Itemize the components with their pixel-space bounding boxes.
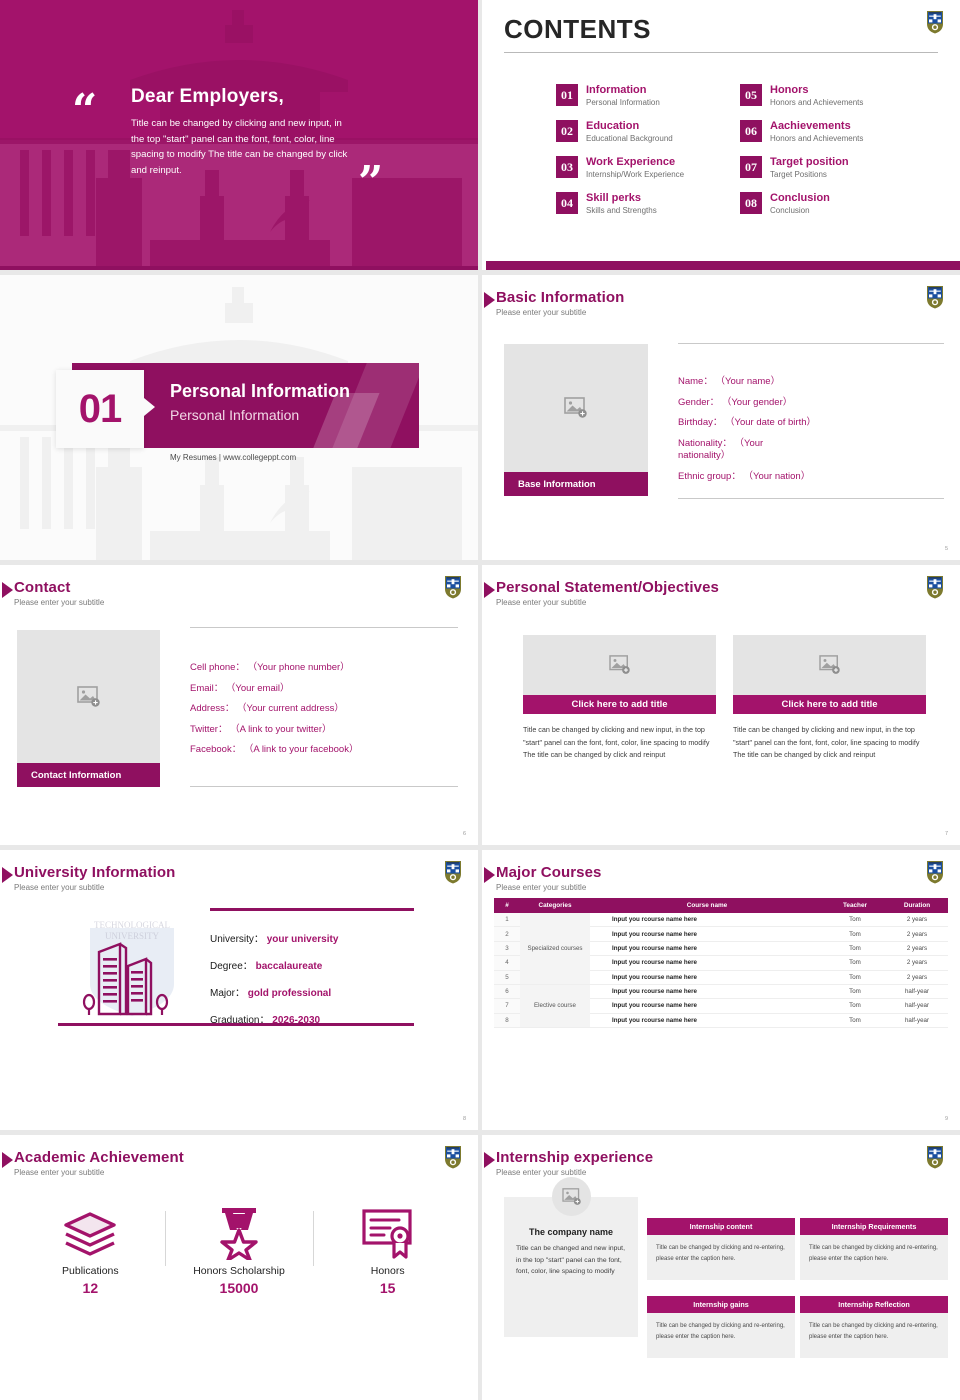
slide-basic-information[interactable]: Basic Information Please enter your subt… xyxy=(482,275,960,560)
card-title-bar[interactable]: Click here to add title xyxy=(733,695,926,714)
contents-number: 06 xyxy=(740,120,762,142)
contents-subheading: Skills and Strengths xyxy=(586,206,657,216)
page-title: Personal Statement/Objectives xyxy=(496,579,719,596)
contents-subheading: Educational Background xyxy=(586,134,673,144)
section-number: 01 xyxy=(79,387,122,432)
info-row: Birthday： （Your date of birth） xyxy=(678,418,944,428)
company-description: Title can be changed and new input, in t… xyxy=(516,1243,626,1278)
info-row: Email： （Your email） xyxy=(190,684,458,694)
info-value: （Your phone number） xyxy=(248,662,350,673)
university-detail-list: University： your university Degree： bacc… xyxy=(210,930,338,1038)
slide-academic-achievement[interactable]: Academic Achievement Please enter your s… xyxy=(0,1135,478,1400)
page-title: Major Courses xyxy=(496,864,602,881)
title-triangle-icon xyxy=(2,582,13,598)
cell-teacher: Tom xyxy=(824,913,886,927)
internship-card[interactable]: Internship gains Title can be changed by… xyxy=(647,1296,795,1358)
row-key: University： xyxy=(210,934,264,945)
page-subtitle: Please enter your subtitle xyxy=(496,308,624,317)
cell-course: Input you rcourse name here xyxy=(590,1013,824,1027)
cell-index: 8 xyxy=(494,1013,520,1027)
page-number: 8 xyxy=(463,1116,466,1122)
cell-duration: 2 years xyxy=(886,970,948,984)
contents-number: 07 xyxy=(740,156,762,178)
cell-teacher: Tom xyxy=(824,1013,886,1027)
slide-header: Personal Statement/Objectives Please ent… xyxy=(496,579,719,607)
courses-table: # Categories Course name Teacher Duratio… xyxy=(494,898,948,1028)
achievement-value: 12 xyxy=(16,1280,165,1296)
info-value: （Your date of birth） xyxy=(725,417,816,428)
page-title: Academic Achievement xyxy=(14,1149,184,1166)
info-row: Facebook： （A link to your facebook） xyxy=(190,745,458,755)
info-key: Name： xyxy=(678,376,713,387)
info-value: （Your gender） xyxy=(722,397,792,408)
contents-subheading: Personal Information xyxy=(586,98,660,108)
contents-number: 03 xyxy=(556,156,578,178)
medal-icon xyxy=(165,1205,314,1261)
books-icon xyxy=(16,1205,165,1261)
cell-teacher: Tom xyxy=(824,927,886,941)
info-row: Name： （Your name） xyxy=(678,377,944,387)
achievement-stats-row: Publications 12 Honors Scholarship 15000 xyxy=(16,1205,462,1296)
slide-personal-statement[interactable]: Personal Statement/Objectives Please ent… xyxy=(482,565,960,845)
page-number: 9 xyxy=(945,1116,948,1122)
title-triangle-icon xyxy=(484,582,495,598)
page-subtitle: Please enter your subtitle xyxy=(496,598,719,607)
contents-heading: Information xyxy=(586,84,660,97)
cell-index: 2 xyxy=(494,927,520,941)
slide-header: Contact Please enter your subtitle xyxy=(14,579,104,607)
photo-caption-bar: Contact Information xyxy=(17,763,160,787)
university-shield-logo xyxy=(444,575,462,599)
contents-divider-rule xyxy=(504,52,938,53)
contents-bottom-bar xyxy=(486,261,960,270)
slide-header: Major Courses Please enter your subtitle xyxy=(496,864,602,892)
column-header-duration: Duration xyxy=(886,898,948,913)
photo-placeholder[interactable] xyxy=(523,635,716,695)
column-header-course: Course name xyxy=(590,898,824,913)
image-placeholder-icon xyxy=(77,686,101,708)
photo-placeholder[interactable] xyxy=(552,1177,591,1216)
card-title-bar[interactable]: Internship Requirements xyxy=(800,1218,948,1235)
university-shield-logo xyxy=(926,860,944,884)
university-shield-logo xyxy=(926,1145,944,1169)
slide-university-information[interactable]: University Information Please enter your… xyxy=(0,850,478,1130)
table-header-row: # Categories Course name Teacher Duratio… xyxy=(494,898,948,913)
page-subtitle: Please enter your subtitle xyxy=(14,598,104,607)
cell-duration: 2 years xyxy=(886,956,948,970)
university-shield-logo xyxy=(926,10,944,34)
info-value: （Your nation） xyxy=(743,471,810,482)
cell-teacher: Tom xyxy=(824,970,886,984)
cell-duration: 2 years xyxy=(886,941,948,955)
info-value: （Your email） xyxy=(226,683,290,694)
company-name: The company name xyxy=(516,1227,626,1237)
cover-bottom-bar xyxy=(0,266,478,270)
card-title-bar[interactable]: Internship gains xyxy=(647,1296,795,1313)
basic-info-list: Name： （Your name） Gender： （Your gender） … xyxy=(678,343,944,499)
cell-teacher: Tom xyxy=(824,941,886,955)
table-row: 6 Elective course Input you rcourse name… xyxy=(494,984,948,998)
cell-duration: half-year xyxy=(886,1013,948,1027)
column-header-categories: Categories xyxy=(520,898,590,913)
slide-internship-experience[interactable]: Internship experience Please enter your … xyxy=(482,1135,960,1400)
card-body-text: Title can be changed by clicking and re-… xyxy=(647,1313,795,1350)
image-placeholder-icon xyxy=(609,655,631,675)
achievement-value: 15000 xyxy=(165,1280,314,1296)
cell-course: Input you rcourse name here xyxy=(590,913,824,927)
cell-index: 5 xyxy=(494,970,520,984)
company-panel: The company name Title can be changed an… xyxy=(504,1197,638,1337)
cell-duration: 2 years xyxy=(886,913,948,927)
slide-deck-grid: “ Dear Employers, Title can be changed b… xyxy=(0,0,960,1400)
cell-course: Input you rcourse name here xyxy=(590,941,824,955)
contents-subheading: Honors and Achievements xyxy=(770,98,863,108)
info-key: Birthday： xyxy=(678,417,722,428)
contents-item-05[interactable]: 05 Honors Honors and Achievements xyxy=(740,84,924,108)
card-title-bar[interactable]: Click here to add title xyxy=(523,695,716,714)
university-row: University： your university xyxy=(210,930,338,945)
cell-index: 1 xyxy=(494,913,520,927)
slide-contents[interactable]: CONTENTS 01 Information Personal Informa… xyxy=(482,0,960,270)
contents-item-07[interactable]: 07 Target position Target Positions xyxy=(740,156,924,180)
quote-close-icon: ” xyxy=(358,168,383,199)
row-value: your university xyxy=(267,934,339,945)
title-triangle-icon xyxy=(484,292,495,308)
info-row: Ethnic group： （Your nation） xyxy=(678,472,944,482)
info-key: Email： xyxy=(190,683,223,694)
cell-duration: 2 years xyxy=(886,927,948,941)
achievement-stat: Honors 15 xyxy=(313,1205,462,1296)
card-body-text: Title can be changed by clicking and re-… xyxy=(800,1313,948,1350)
info-value: （A link to your facebook） xyxy=(244,744,359,755)
cell-course: Input you rcourse name here xyxy=(590,927,824,941)
card-body-text: Title can be changed by clicking and new… xyxy=(523,724,716,762)
university-shield-logo xyxy=(444,1145,462,1169)
internship-card[interactable]: Internship Requirements Title can be cha… xyxy=(800,1218,948,1280)
contents-item-01[interactable]: 01 Information Personal Information xyxy=(556,84,740,108)
page-number: 7 xyxy=(945,831,948,837)
title-triangle-icon xyxy=(484,867,495,883)
info-value: （Your current address） xyxy=(237,703,344,714)
info-row: Cell phone： （Your phone number） xyxy=(190,663,458,673)
contents-number: 01 xyxy=(556,84,578,106)
university-row: Degree： baccalaureate xyxy=(210,957,338,972)
image-placeholder-icon xyxy=(819,655,841,675)
cell-course: Input you rcourse name here xyxy=(590,984,824,998)
slide-header: Internship experience Please enter your … xyxy=(496,1149,653,1177)
photo-placeholder[interactable] xyxy=(733,635,926,695)
contents-number: 08 xyxy=(740,192,762,214)
section-heading: Personal Information xyxy=(170,381,350,402)
info-value: nationality） xyxy=(678,450,730,461)
cell-teacher: Tom xyxy=(824,956,886,970)
photo-placeholder[interactable] xyxy=(504,344,648,472)
column-header-index: # xyxy=(494,898,520,913)
info-key: Gender： xyxy=(678,397,719,408)
page-title: Internship experience xyxy=(496,1149,653,1166)
cell-category: Elective course xyxy=(520,984,590,1027)
cell-index: 7 xyxy=(494,999,520,1013)
info-key: Twitter： xyxy=(190,724,227,735)
internship-card[interactable]: Internship content Title can be changed … xyxy=(647,1218,795,1280)
slide-major-courses[interactable]: Major Courses Please enter your subtitle… xyxy=(482,850,960,1130)
contents-title: CONTENTS xyxy=(504,14,651,45)
achievement-label: Honors xyxy=(313,1265,462,1277)
card-body-text: Title can be changed by clicking and re-… xyxy=(647,1235,795,1272)
title-triangle-icon xyxy=(2,867,13,883)
achievement-stat: Publications 12 xyxy=(16,1205,165,1296)
list-bottom-rule xyxy=(678,498,944,499)
contents-item-02[interactable]: 02 Education Educational Background xyxy=(556,120,740,144)
cell-index: 4 xyxy=(494,956,520,970)
contents-heading: Education xyxy=(586,120,673,133)
row-key: Graduation： xyxy=(210,1015,269,1026)
contents-heading: Conclusion xyxy=(770,192,830,205)
achievement-value: 15 xyxy=(313,1280,462,1296)
row-key: Degree： xyxy=(210,961,253,972)
column-header-teacher: Teacher xyxy=(824,898,886,913)
info-key: Address： xyxy=(190,703,234,714)
slide-header: University Information Please enter your… xyxy=(14,864,175,892)
contents-heading: Skill perks xyxy=(586,192,657,205)
table-row: 1 Specialized courses Input you rcourse … xyxy=(494,913,948,927)
row-value: gold professional xyxy=(248,988,331,999)
svg-text:UNIVERSITY: UNIVERSITY xyxy=(105,931,159,941)
info-row: nationality） xyxy=(678,451,944,461)
image-placeholder-icon xyxy=(562,1188,582,1206)
info-value: （A link to your twitter） xyxy=(230,724,331,735)
cell-teacher: Tom xyxy=(824,984,886,998)
info-key: Nationality： xyxy=(678,438,732,449)
cell-index: 3 xyxy=(494,941,520,955)
info-value: （Your xyxy=(735,438,764,449)
panel-top-rule xyxy=(210,908,414,911)
page-number: 5 xyxy=(945,546,948,552)
section-subheading: Personal Information xyxy=(170,407,299,423)
university-shield-logo xyxy=(926,575,944,599)
contents-heading: Honors xyxy=(770,84,863,97)
section-number-box: 01 xyxy=(56,370,144,448)
university-shield-logo xyxy=(444,860,462,884)
slide-section-divider[interactable]: Personal Information Personal Informatio… xyxy=(0,275,478,560)
cell-index: 6 xyxy=(494,984,520,998)
university-row: Major： gold professional xyxy=(210,984,338,999)
page-subtitle: Please enter your subtitle xyxy=(14,883,175,892)
contents-subheading: Target Positions xyxy=(770,170,849,180)
cell-course: Input you rcourse name here xyxy=(590,999,824,1013)
contents-item-08[interactable]: 08 Conclusion Conclusion xyxy=(740,192,924,216)
title-triangle-icon xyxy=(2,1152,13,1168)
contents-subheading: Internship/Work Experience xyxy=(586,170,684,180)
university-building-icon: TECHNOLOGICAL UNIVERSITY xyxy=(62,914,202,1022)
card-title-bar[interactable]: Internship Reflection xyxy=(800,1296,948,1313)
page-subtitle: Please enter your subtitle xyxy=(496,883,602,892)
slide-cover[interactable]: “ Dear Employers, Title can be changed b… xyxy=(0,0,478,270)
contents-heading: Work Experience xyxy=(586,156,684,169)
contents-heading: Target position xyxy=(770,156,849,169)
cell-teacher: Tom xyxy=(824,999,886,1013)
slide-header: Basic Information Please enter your subt… xyxy=(496,289,624,317)
contents-number: 04 xyxy=(556,192,578,214)
university-watermark-text: TECHNOLOGICAL xyxy=(94,920,170,930)
statement-card[interactable]: Click here to add title Title can be cha… xyxy=(733,635,926,762)
page-title: Basic Information xyxy=(496,289,624,306)
cell-course: Input you rcourse name here xyxy=(590,970,824,984)
list-top-rule xyxy=(678,343,944,344)
info-key: Facebook： xyxy=(190,744,241,755)
achievement-label: Honors Scholarship xyxy=(165,1265,314,1277)
achievement-stat: Honors Scholarship 15000 xyxy=(165,1205,314,1296)
contents-subheading: Honors and Achievements xyxy=(770,134,863,144)
photo-caption-bar: Base Information xyxy=(504,472,648,496)
info-key: Cell phone： xyxy=(190,662,245,673)
contents-item-06[interactable]: 06 Aachievements Honors and Achievements xyxy=(740,120,924,144)
info-row: Gender： （Your gender） xyxy=(678,398,944,408)
info-row: Nationality： （Your xyxy=(678,439,944,449)
slide-header: Academic Achievement Please enter your s… xyxy=(14,1149,184,1177)
statement-card[interactable]: Click here to add title Title can be cha… xyxy=(523,635,716,762)
contents-heading: Aachievements xyxy=(770,120,863,133)
page-title: University Information xyxy=(14,864,175,881)
card-title-bar[interactable]: Internship content xyxy=(647,1218,795,1235)
contents-list: 01 Information Personal Information 05 H… xyxy=(556,84,924,216)
university-panel: TECHNOLOGICAL UNIVERSITY xyxy=(58,908,414,1026)
row-value: 2026-2030 xyxy=(272,1015,320,1026)
cell-course: Input you rcourse name here xyxy=(590,956,824,970)
card-body-text: Title can be changed by clicking and new… xyxy=(733,724,926,762)
row-key: Major： xyxy=(210,988,245,999)
quote-open-icon: “ xyxy=(72,96,98,127)
internship-card[interactable]: Internship Reflection Title can be chang… xyxy=(800,1296,948,1358)
cover-body-text: Title can be changed by clicking and new… xyxy=(131,116,349,178)
card-body-text: Title can be changed by clicking and re-… xyxy=(800,1235,948,1272)
image-placeholder-icon xyxy=(564,397,588,419)
cover-title: Dear Employers, xyxy=(131,86,284,108)
page-number: 6 xyxy=(463,831,466,837)
certificate-icon xyxy=(313,1205,462,1261)
contents-number: 02 xyxy=(556,120,578,142)
list-bottom-rule xyxy=(190,786,458,787)
contents-item-04[interactable]: 04 Skill perks Skills and Strengths xyxy=(556,192,740,216)
row-value: baccalaureate xyxy=(256,961,323,972)
list-top-rule xyxy=(190,627,458,628)
university-shield-logo xyxy=(926,285,944,309)
contents-subheading: Conclusion xyxy=(770,206,830,216)
page-subtitle: Please enter your subtitle xyxy=(496,1168,653,1177)
contents-number: 05 xyxy=(740,84,762,106)
photo-placeholder[interactable] xyxy=(17,630,160,764)
slide-contact[interactable]: Contact Please enter your subtitle xyxy=(0,565,478,845)
cell-duration: half-year xyxy=(886,999,948,1013)
achievement-label: Publications xyxy=(16,1265,165,1277)
info-row: Address： （Your current address） xyxy=(190,704,458,714)
section-arrow-icon xyxy=(144,398,155,416)
contents-item-03[interactable]: 03 Work Experience Internship/Work Exper… xyxy=(556,156,740,180)
cell-category: Specialized courses xyxy=(520,913,590,984)
cell-duration: half-year xyxy=(886,984,948,998)
title-triangle-icon xyxy=(484,1152,495,1168)
university-row: Graduation： 2026-2030 xyxy=(210,1011,338,1026)
section-footer-text: My Resumes | www.collegeppt.com xyxy=(170,453,296,462)
info-key: Ethnic group： xyxy=(678,471,741,482)
contact-info-list: Cell phone： （Your phone number） Email： （… xyxy=(190,627,458,787)
page-subtitle: Please enter your subtitle xyxy=(14,1168,184,1177)
page-title: Contact xyxy=(14,579,104,596)
info-row: Twitter： （A link to your twitter） xyxy=(190,725,458,735)
info-value: （Your name） xyxy=(715,376,780,387)
